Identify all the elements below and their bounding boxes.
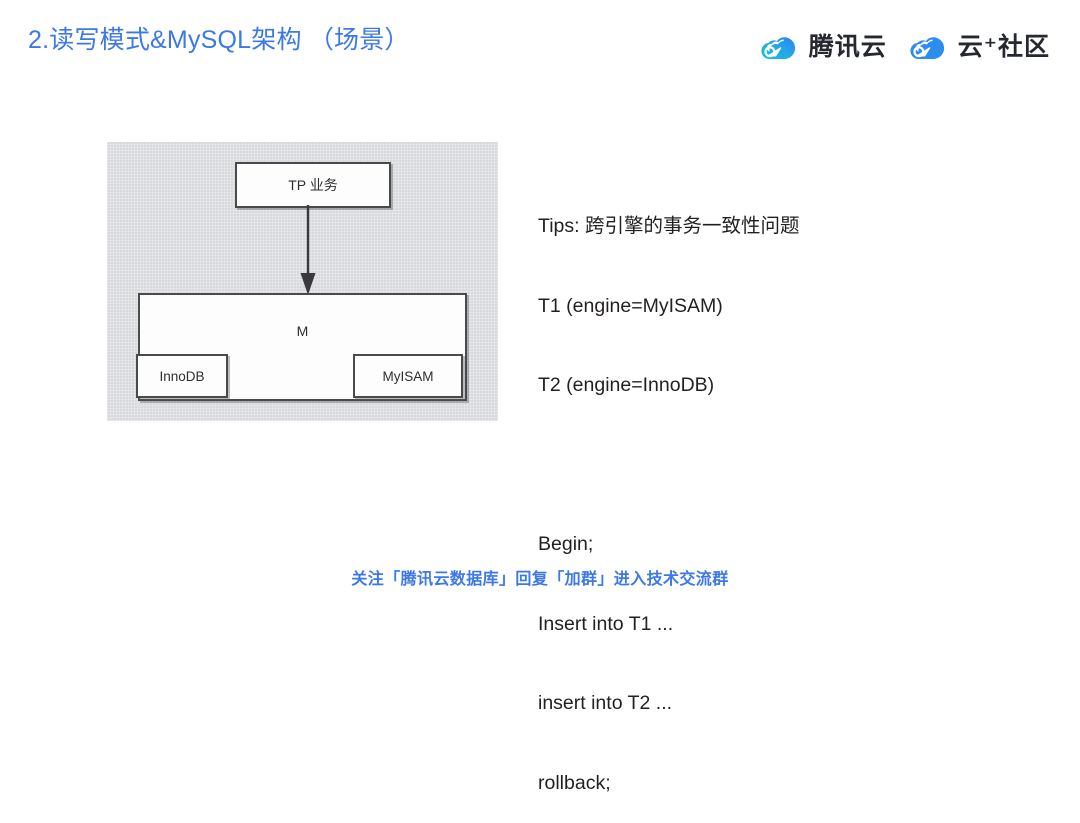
diagram-node-myisam: MyISAM (353, 354, 463, 398)
page-title: 2.读写模式&MySQL架构 （场景） (28, 20, 410, 56)
note-line-insert-t1: Insert into T1 ... (538, 611, 799, 638)
notes-block: Tips: 跨引擎的事务一致性问题 T1 (engine=MyISAM) T2 … (538, 160, 799, 823)
note-line-tips: Tips: 跨引擎的事务一致性问题 (538, 213, 799, 240)
note-line-insert-t2: insert into T2 ... (538, 690, 799, 717)
brand-lockup-cloud-community: 云⁺社区 (909, 32, 1050, 63)
brand-lockup-tencent-cloud: 腾讯云 (760, 32, 887, 63)
diagram-node-innodb: InnoDB (136, 354, 228, 398)
note-line-t2: T2 (engine=InnoDB) (538, 372, 799, 399)
architecture-diagram: TP 业务 M InnoDB MyISAM (107, 142, 498, 421)
note-line-rollback: rollback; (538, 770, 799, 797)
brand-label-tencent-cloud: 腾讯云 (809, 35, 887, 60)
brand-label-cloud-community: 云⁺社区 (958, 35, 1050, 60)
diagram-node-tp-business: TP 业务 (235, 162, 391, 208)
brand-bar: 腾讯云 云⁺社区 (760, 32, 1050, 63)
tencent-cloud-icon (760, 32, 800, 63)
diagram-node-master-label: M (140, 323, 465, 339)
cloud-community-icon (909, 32, 949, 63)
note-line-spacer (538, 452, 799, 479)
note-line-t1: T1 (engine=MyISAM) (538, 293, 799, 320)
down-arrow-icon (295, 205, 321, 297)
note-line-begin: Begin; (538, 531, 799, 558)
footer-promo-text: 关注「腾讯云数据库」回复「加群」进入技术交流群 (0, 565, 1080, 589)
